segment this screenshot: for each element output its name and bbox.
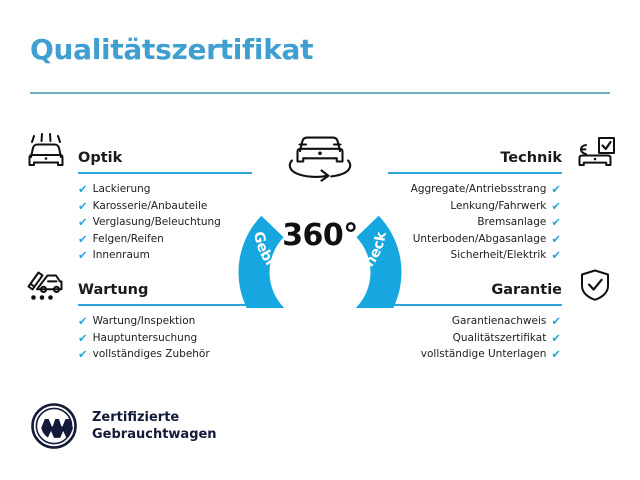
section-title-technik: Technik [388, 150, 562, 167]
list-item: ✔Garantienachweis [388, 313, 561, 330]
footer-brand-lockup: Zertifizierte Gebrauchtwagen [30, 402, 217, 450]
list-item-label: vollständige Unterlagen [421, 346, 547, 363]
check-icon: ✔ [551, 181, 561, 198]
badge-360-gebrauchtwagen-check: Gebrauchtwagen-Check 360° [232, 122, 408, 308]
list-item-label: Aggregate/Antriebsstrang [411, 181, 547, 198]
list-item: ✔Karosserie/Anbauteile [78, 198, 252, 215]
brand-line-1: Zertifizierte [92, 409, 217, 426]
list-item: ✔vollständige Unterlagen [388, 346, 561, 363]
check-icon: ✔ [78, 198, 88, 215]
section-optik: Optik ✔Lackierung ✔Karosserie/Anbauteile… [22, 130, 252, 264]
list-item: ✔Bremsanlage [388, 214, 561, 231]
list-item-label: vollständiges Zubehör [93, 346, 210, 363]
section-divider-technik [388, 172, 562, 174]
list-item: ✔Hauptuntersuchung [78, 330, 252, 347]
header-divider [30, 92, 610, 94]
list-item-label: Wartung/Inspektion [93, 313, 196, 330]
badge-degree-label: 360° [232, 218, 408, 253]
section-divider-garantie [388, 304, 562, 306]
brand-text: Zertifizierte Gebrauchtwagen [92, 409, 217, 443]
check-icon: ✔ [78, 231, 88, 248]
section-title-optik: Optik [78, 150, 252, 167]
list-item-label: Unterboden/Abgasanlage [413, 231, 547, 248]
check-icon: ✔ [551, 198, 561, 215]
list-item-label: Qualitätszertifikat [453, 330, 547, 347]
volkswagen-logo [30, 402, 78, 450]
check-icon: ✔ [551, 330, 561, 347]
section-title-garantie: Garantie [388, 282, 562, 299]
car-rotate-360-icon [290, 138, 350, 181]
check-icon: ✔ [78, 214, 88, 231]
list-item: ✔Aggregate/Antriebsstrang [388, 181, 561, 198]
shield-check-icon [572, 264, 618, 306]
badge-ring: Gebrauchtwagen-Check [232, 122, 408, 308]
brand-line-2: Gebrauchtwagen [92, 426, 217, 443]
checklist-technik: ✔Aggregate/Antriebsstrang ✔Lenkung/Fahrw… [388, 181, 618, 264]
list-item-label: Karosserie/Anbauteile [93, 198, 208, 215]
list-item-label: Bremsanlage [477, 214, 546, 231]
service-record-car-icon [22, 264, 68, 306]
list-item: ✔Lackierung [78, 181, 252, 198]
check-icon: ✔ [551, 214, 561, 231]
list-item: ✔Qualitätszertifikat [388, 330, 561, 347]
section-title-wartung: Wartung [78, 282, 252, 299]
list-item-label: Garantienachweis [452, 313, 546, 330]
check-icon: ✔ [78, 330, 88, 347]
list-item-label: Hauptuntersuchung [93, 330, 198, 347]
list-item: ✔vollständiges Zubehör [78, 346, 252, 363]
checklist-garantie: ✔Garantienachweis ✔Qualitätszertifikat ✔… [388, 313, 618, 363]
check-icon: ✔ [78, 181, 88, 198]
list-item: ✔Wartung/Inspektion [78, 313, 252, 330]
list-item-label: Lenkung/Fahrwerk [450, 198, 546, 215]
check-icon: ✔ [551, 231, 561, 248]
section-technik: Technik ✔Aggregate/Antriebsstrang ✔Lenku… [388, 130, 618, 264]
list-item-label: Verglasung/Beleuchtung [93, 214, 221, 231]
checklist-optik: ✔Lackierung ✔Karosserie/Anbauteile ✔Verg… [22, 181, 252, 264]
check-icon: ✔ [78, 313, 88, 330]
check-icon: ✔ [551, 313, 561, 330]
checklist-wartung: ✔Wartung/Inspektion ✔Hauptuntersuchung ✔… [22, 313, 252, 363]
list-item: ✔Unterboden/Abgasanlage [388, 231, 561, 248]
list-item-label: Lackierung [93, 181, 151, 198]
list-item: ✔Felgen/Reifen [78, 231, 252, 248]
section-divider-wartung [78, 304, 252, 306]
check-icon: ✔ [551, 346, 561, 363]
car-checkbox-icon [572, 132, 618, 174]
car-shine-icon [22, 132, 68, 174]
list-item-label: Felgen/Reifen [93, 231, 164, 248]
page-title: Qualitätszertifikat [30, 33, 313, 66]
section-garantie: Garantie ✔Garantienachweis ✔Qualitätszer… [388, 262, 618, 363]
check-icon: ✔ [78, 346, 88, 363]
list-item: ✔Lenkung/Fahrwerk [388, 198, 561, 215]
list-item: ✔Verglasung/Beleuchtung [78, 214, 252, 231]
section-divider-optik [78, 172, 252, 174]
section-wartung: Wartung ✔Wartung/Inspektion ✔Hauptunters… [22, 262, 252, 363]
